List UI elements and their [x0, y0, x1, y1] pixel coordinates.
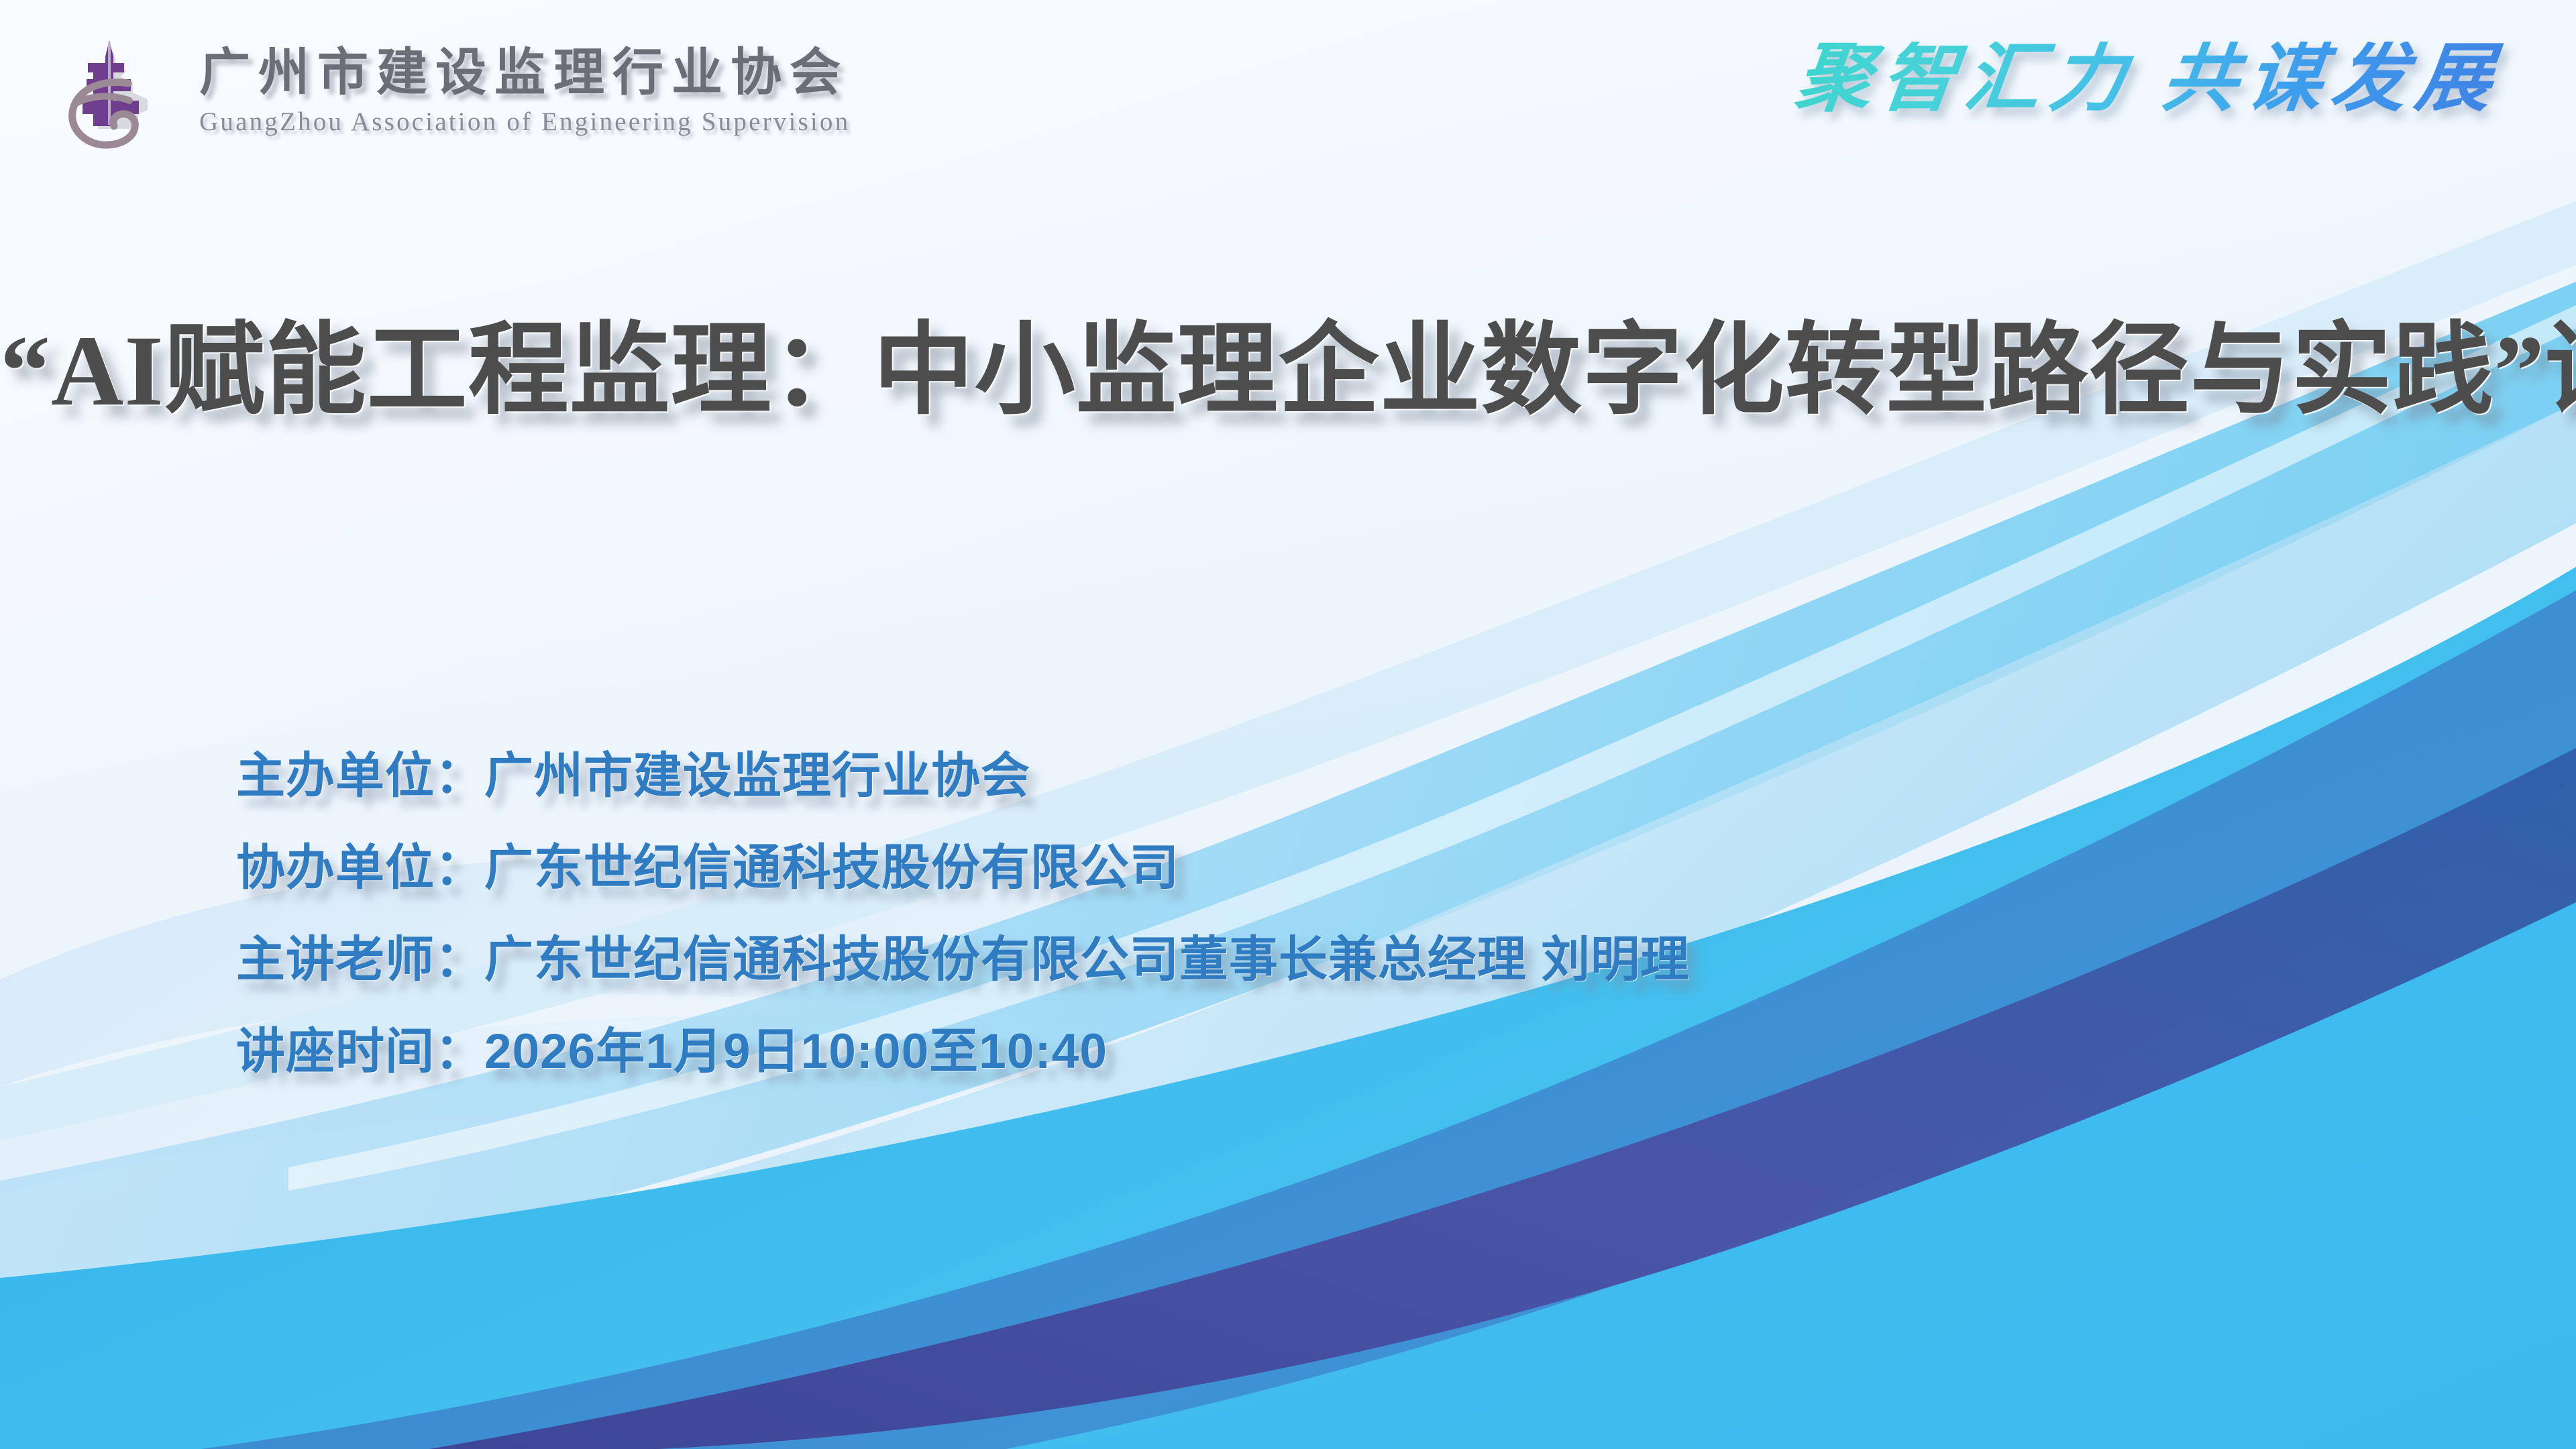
association-logo: 广州市建设监理行业协会 GuangZhou Association of Eng…: [64, 35, 850, 156]
info-line-time: 讲座时间：2026年1月9日10:00至10:40: [236, 1027, 1690, 1076]
poster-canvas: 广州市建设监理行业协会 GuangZhou Association of Eng…: [0, 0, 2576, 1449]
association-name-en: GuangZhou Association of Engineering Sup…: [199, 107, 850, 137]
slogan-text: 聚智汇力 共谋发展: [1792, 42, 2506, 117]
event-info-block: 主办单位：广州市建设监理行业协会 协办单位：广东世纪信通科技股份有限公司 主讲老…: [236, 751, 1690, 1076]
info-line-coorganizer: 协办单位：广东世纪信通科技股份有限公司: [236, 843, 1690, 892]
association-name-cn: 广州市建设监理行业协会: [199, 47, 850, 100]
info-line-speaker: 主讲老师：广东世纪信通科技股份有限公司董事长兼总经理 刘明理: [236, 935, 1690, 984]
logo-text: 广州市建设监理行业协会 GuangZhou Association of Eng…: [199, 35, 850, 137]
page-title: “AI赋能工程监理：中小监理企业数字化转型路径与实践”讲座: [0, 310, 2576, 433]
info-line-organizer: 主办单位：广州市建设监理行业协会: [236, 751, 1690, 800]
poster-header: 广州市建设监理行业协会 GuangZhou Association of Eng…: [0, 0, 2576, 201]
pagoda-logo-icon: [64, 39, 184, 156]
background-waves: [0, 0, 2576, 1449]
